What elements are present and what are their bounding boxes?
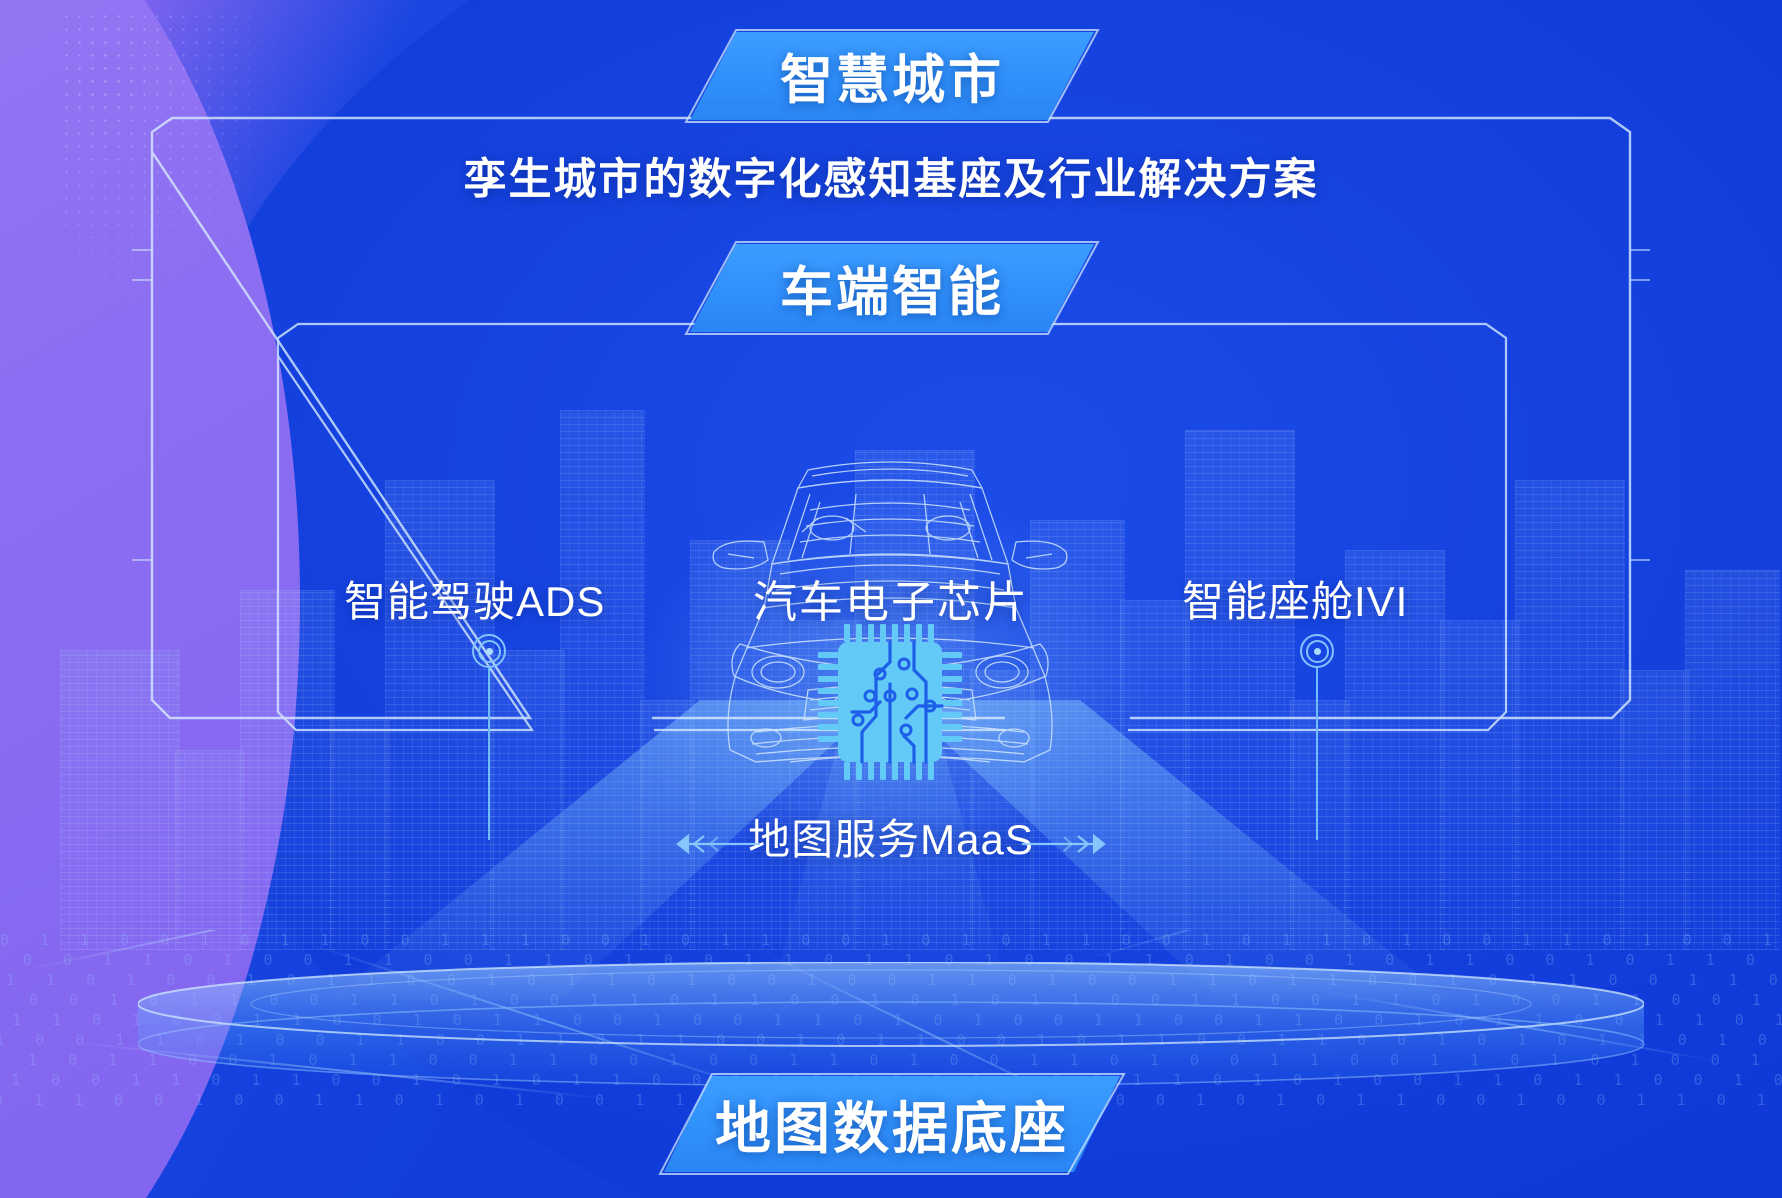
subtitle-text: 孪生城市的数字化感知基座及行业解决方案 [0,145,1782,207]
banner-map-data-base-label: 地图数据底座 [715,1084,1069,1165]
arrow-left-icon [652,832,762,856]
banner-vehicle-intelligence[interactable]: 车端智能 [690,244,1094,332]
label-smart-cockpit-ivi: 智能座舱IVI [1182,568,1408,629]
banner-map-data-base[interactable]: 地图数据底座 [664,1076,1120,1172]
banner-smart-city[interactable]: 智慧城市 [690,32,1094,120]
connector-node-icon-right [1300,634,1334,668]
poster-canvas: 0 1 1 0 0 1 0 1 1 0 0 1 1 1 0 0 1 0 1 1 … [0,0,1782,1198]
banner-smart-city-label: 智慧城市 [780,38,1004,114]
label-intelligent-driving-ads: 智能驾驶ADS [344,568,605,629]
connector-node-icon-left [472,634,506,668]
label-map-service-maas: 地图服务MaaS [0,806,1782,867]
circuit-chip-icon [818,624,962,780]
arrow-right-icon [1020,832,1130,856]
label-chip: 汽车电子芯片 [0,566,1782,630]
banner-vehicle-intelligence-label: 车端智能 [780,250,1004,326]
label-map-service-maas-text: 地图服务MaaS [748,816,1034,863]
